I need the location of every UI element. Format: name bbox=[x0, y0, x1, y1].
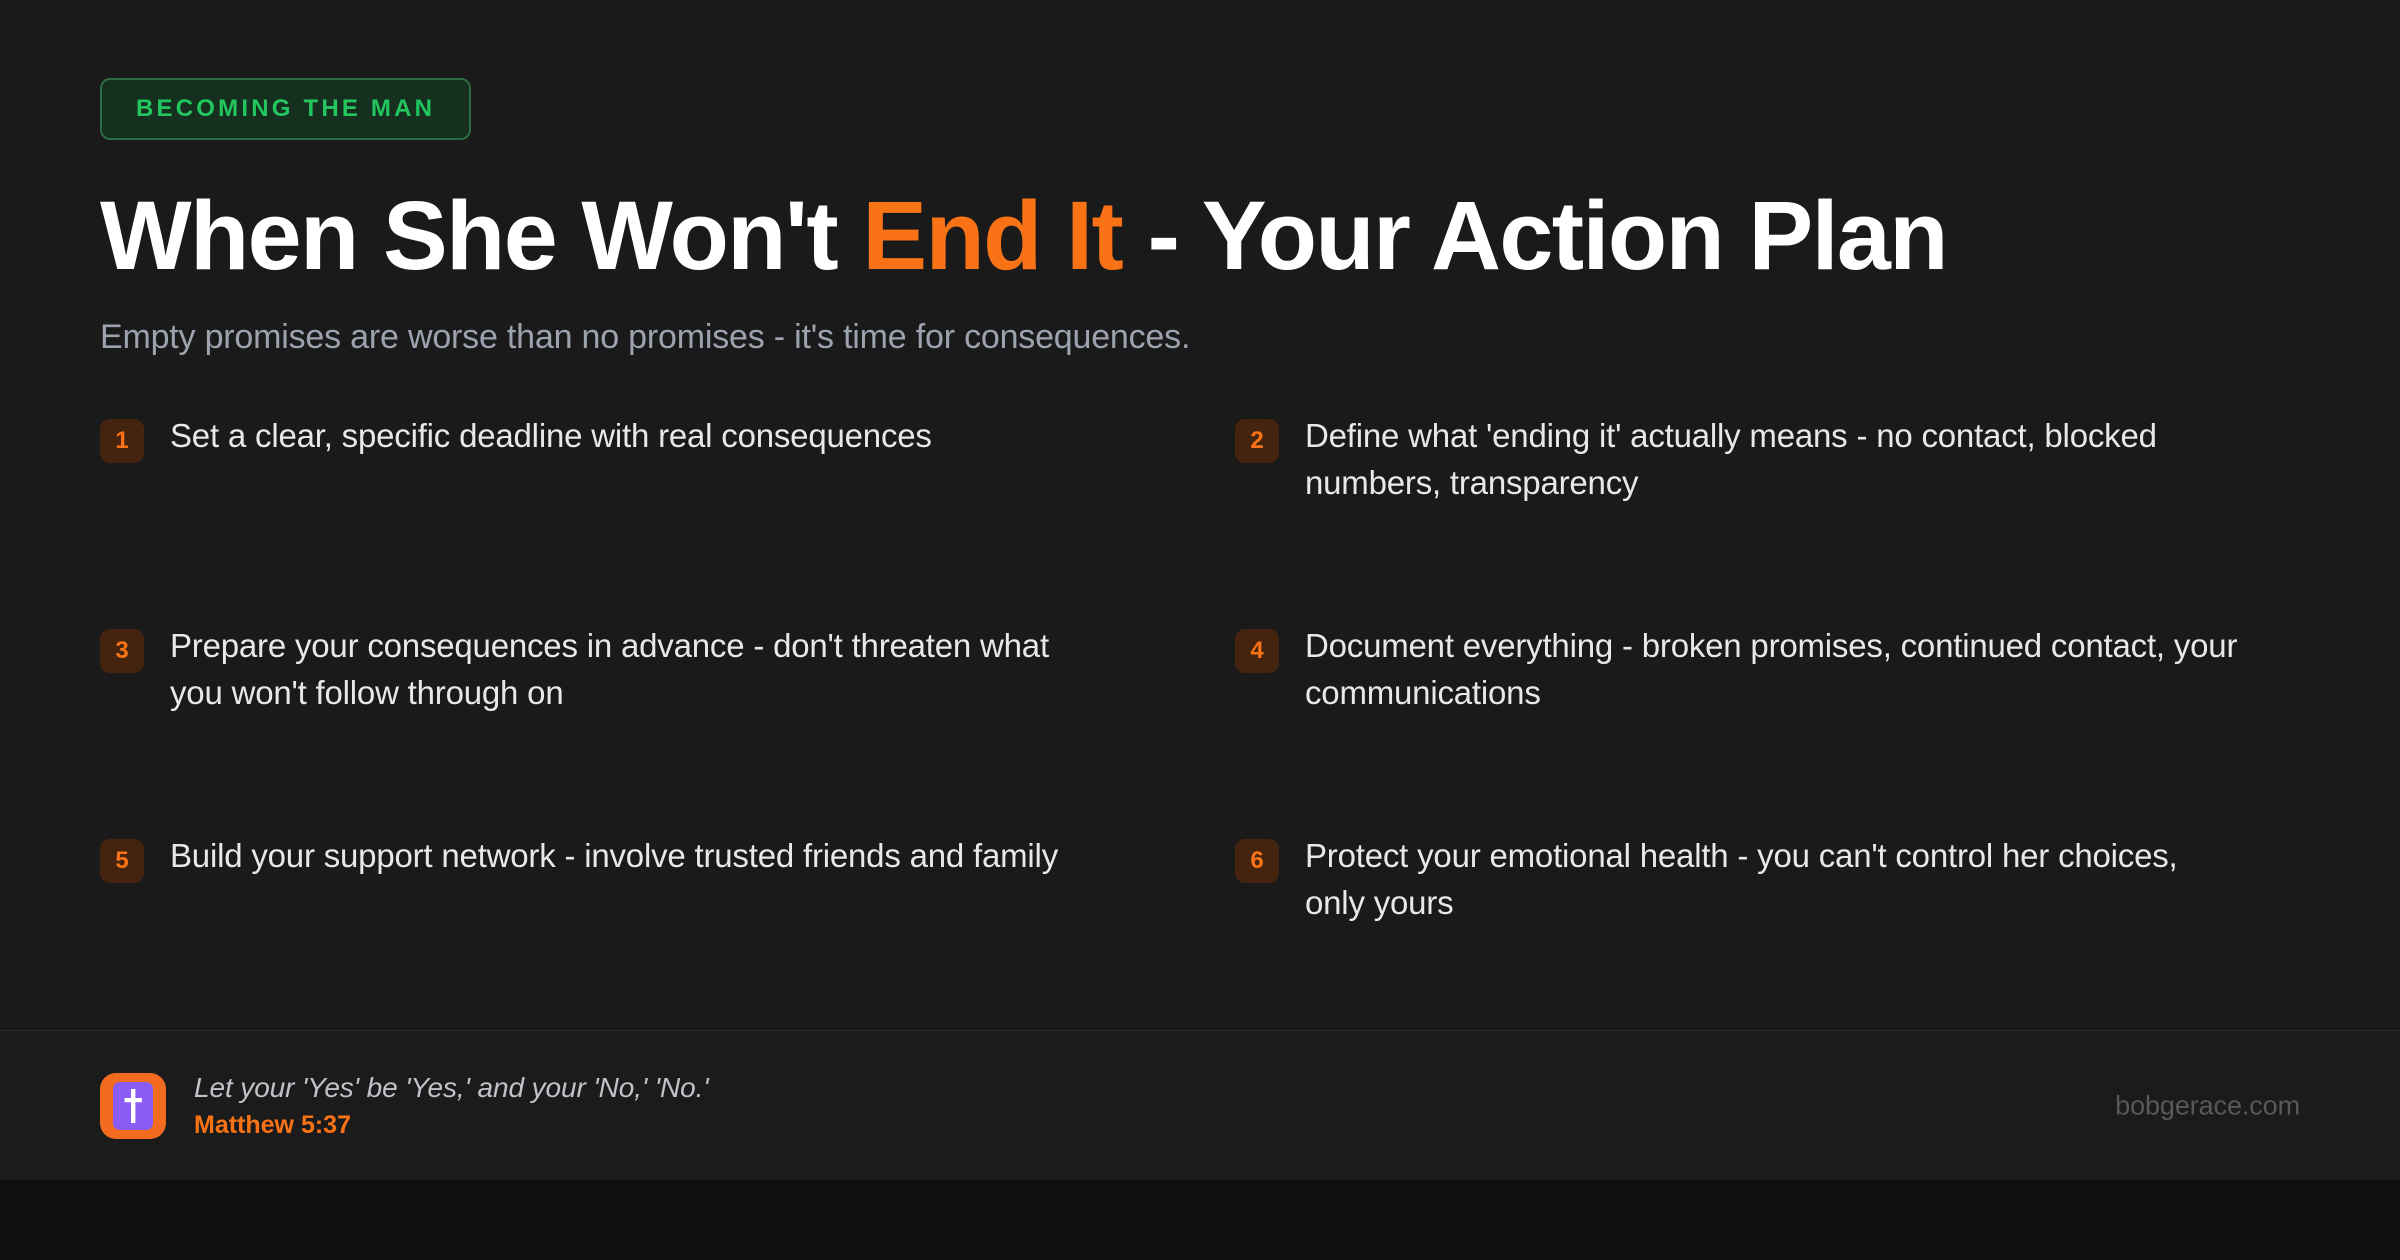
page-title: When She Won't End It - Your Action Plan bbox=[100, 186, 2300, 287]
slide-footer: Let your 'Yes' be 'Yes,' and your 'No,' … bbox=[0, 1030, 2400, 1180]
point-text: Set a clear, specific deadline with real… bbox=[170, 413, 932, 460]
point-number-badge: 6 bbox=[1235, 839, 1279, 883]
site-url: bobgerace.com bbox=[2115, 1090, 2300, 1121]
point-text: Build your support network - involve tru… bbox=[170, 833, 1058, 880]
list-item: 5 Build your support network - involve t… bbox=[100, 833, 1165, 1043]
headline-accent: End It bbox=[862, 181, 1122, 290]
list-item: 4 Document everything - broken promises,… bbox=[1235, 623, 2300, 833]
point-text: Document everything - broken promises, c… bbox=[1305, 623, 2245, 717]
eyebrow-label: BECOMING THE MAN bbox=[136, 97, 435, 121]
bottom-strip bbox=[0, 1180, 2400, 1260]
cross-glyph bbox=[123, 1089, 143, 1123]
point-text: Prepare your consequences in advance - d… bbox=[170, 623, 1110, 717]
list-item: 1 Set a clear, specific deadline with re… bbox=[100, 413, 1165, 623]
headline-part-2: - Your Action Plan bbox=[1122, 181, 1947, 290]
point-number-badge: 2 bbox=[1235, 419, 1279, 463]
list-item: 2 Define what 'ending it' actually means… bbox=[1235, 413, 2300, 623]
cross-icon-plate bbox=[113, 1082, 153, 1130]
headline-part-1: When She Won't bbox=[100, 181, 862, 290]
scripture-text-group: Let your 'Yes' be 'Yes,' and your 'No,' … bbox=[194, 1071, 709, 1141]
point-number-badge: 3 bbox=[100, 629, 144, 673]
list-item: 6 Protect your emotional health - you ca… bbox=[1235, 833, 2300, 1043]
action-points-list: 1 Set a clear, specific deadline with re… bbox=[100, 413, 2300, 1043]
scripture-block: Let your 'Yes' be 'Yes,' and your 'No,' … bbox=[100, 1071, 709, 1141]
point-number-badge: 1 bbox=[100, 419, 144, 463]
verse-text: Let your 'Yes' be 'Yes,' and your 'No,' … bbox=[194, 1071, 709, 1105]
slide-content: BECOMING THE MAN When She Won't End It -… bbox=[0, 0, 2400, 1030]
eyebrow-badge: BECOMING THE MAN bbox=[100, 78, 471, 140]
cross-icon bbox=[100, 1073, 166, 1139]
point-number-badge: 5 bbox=[100, 839, 144, 883]
list-item: 3 Prepare your consequences in advance -… bbox=[100, 623, 1165, 833]
slide-root: BECOMING THE MAN When She Won't End It -… bbox=[0, 0, 2400, 1260]
page-subtitle: Empty promises are worse than no promise… bbox=[100, 315, 2300, 359]
point-text: Protect your emotional health - you can'… bbox=[1305, 833, 2245, 927]
verse-reference: Matthew 5:37 bbox=[194, 1110, 709, 1140]
point-number-badge: 4 bbox=[1235, 629, 1279, 673]
point-text: Define what 'ending it' actually means -… bbox=[1305, 413, 2245, 507]
